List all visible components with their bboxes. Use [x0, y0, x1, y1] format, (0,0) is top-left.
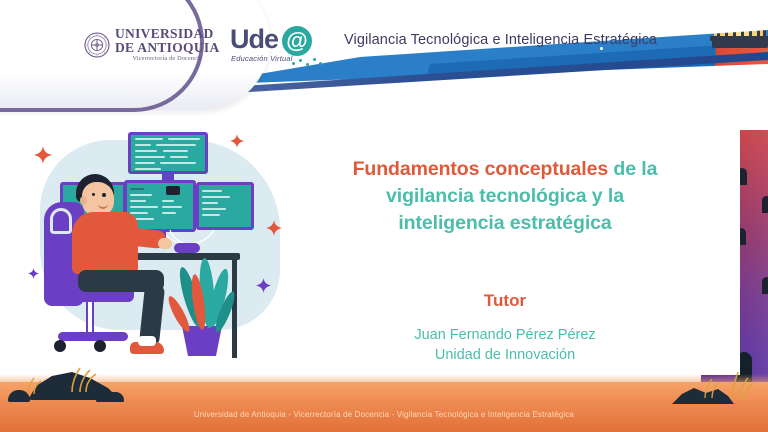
- workstation-illustration: [18, 118, 298, 366]
- code-line: [202, 202, 218, 204]
- code-line: [130, 206, 158, 208]
- tutor-name: Juan Fernando Pérez Pérez: [414, 327, 595, 343]
- code-line: [163, 150, 188, 152]
- presentation-slide: UNIVERSIDAD DE ANTIOQUIA Vicerrectoría d…: [0, 0, 768, 432]
- code-line: [130, 212, 148, 214]
- ude-logo: Ude @ Educación Virtual: [230, 24, 326, 70]
- code-line: [130, 194, 152, 196]
- rock-silhouette-left-extra: [96, 392, 124, 402]
- page-title: Fundamentos conceptuales de la vigilanci…: [300, 156, 710, 237]
- mouse-icon: [174, 243, 200, 253]
- header-title: Vigilancia Tecnológica e Inteligencia Es…: [344, 32, 657, 48]
- university-subtitle: Vicerrectoría de Docencia: [115, 56, 220, 62]
- code-line: [135, 138, 163, 140]
- sparkle-icon: [256, 278, 271, 298]
- sparkle-icon: [230, 134, 244, 153]
- code-line: [202, 214, 220, 216]
- footer-text: Universidad de Antioquia - Vicerrectoría…: [0, 410, 768, 419]
- code-line: [160, 162, 196, 164]
- university-name-line2: DE ANTIOQUIA: [115, 41, 220, 55]
- sparkle-icon: [266, 220, 282, 241]
- ude-logo-subtitle: Educación Virtual: [231, 54, 293, 63]
- chair-wheel: [94, 340, 106, 352]
- grass-left-icon: [66, 366, 100, 392]
- code-line: [162, 200, 174, 202]
- code-line: [135, 168, 161, 170]
- tutor-unit: Unidad de Innovación: [435, 347, 575, 363]
- lighthouse-lamp-bottom-rail: [710, 36, 768, 41]
- lighthouse-window: [762, 196, 768, 213]
- person-sock: [138, 336, 156, 346]
- code-line: [135, 156, 165, 158]
- chair-column: [86, 300, 94, 336]
- code-line: [202, 196, 230, 198]
- code-line: [130, 200, 146, 202]
- code-line: [135, 162, 155, 164]
- page-title-line1-rest: de la: [608, 158, 657, 180]
- code-line: [170, 156, 188, 158]
- code-line: [202, 190, 222, 192]
- chair-base: [58, 332, 128, 341]
- code-line: [162, 212, 176, 214]
- person-eye: [102, 193, 106, 197]
- code-line: [162, 206, 182, 208]
- code-line: [168, 138, 200, 140]
- grass-right-icon: [728, 370, 754, 400]
- ude-logo-word: Ude: [230, 24, 278, 55]
- sparkle-icon: [28, 266, 39, 284]
- footer-ground-band: [0, 382, 768, 432]
- code-line: [130, 188, 144, 190]
- sparkle-icon: [34, 146, 52, 169]
- ude-at-icon: @: [282, 26, 312, 56]
- grass-left-icon-2: [24, 376, 44, 394]
- university-logo: UNIVERSIDAD DE ANTIOQUIA Vicerrectoría d…: [84, 27, 220, 62]
- chair-wheel: [54, 340, 66, 352]
- tutor-label: Tutor: [300, 291, 710, 311]
- page-title-line3: inteligencia estratégica: [398, 212, 611, 234]
- tutor-info: Juan Fernando Pérez Pérez Unidad de Inno…: [300, 325, 710, 365]
- person-hand: [158, 238, 172, 249]
- lighthouse-window: [762, 277, 768, 294]
- grass-right-icon-2: [700, 376, 720, 398]
- desk-leg: [232, 260, 237, 358]
- person-ear: [80, 196, 87, 205]
- code-line: [202, 208, 226, 210]
- page-title-line2: vigilancia tecnológica y la: [386, 185, 624, 207]
- code-line: [135, 150, 157, 152]
- ude-logo-dots: [290, 56, 324, 68]
- university-seal-icon: [84, 32, 110, 58]
- university-logo-text: UNIVERSIDAD DE ANTIOQUIA Vicerrectoría d…: [115, 27, 220, 62]
- webcam-icon: [166, 186, 180, 195]
- chair-back-inner: [50, 208, 72, 234]
- code-line: [135, 144, 151, 146]
- university-name-line1: UNIVERSIDAD: [115, 27, 220, 41]
- person-eye: [92, 193, 95, 196]
- page-title-highlight: Fundamentos conceptuales: [353, 158, 608, 180]
- code-line: [156, 144, 196, 146]
